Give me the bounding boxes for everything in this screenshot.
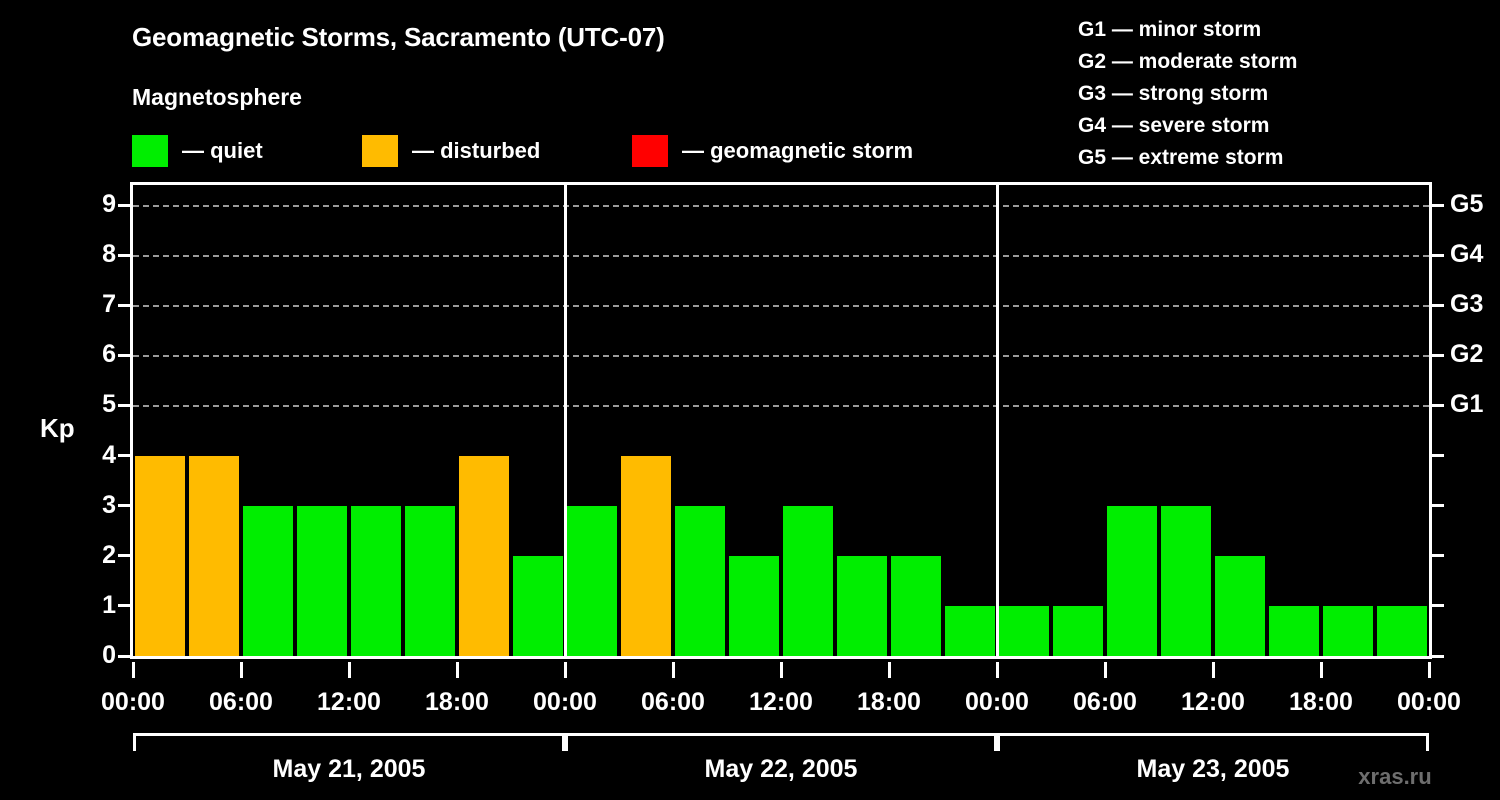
day-label-2: May 22, 2005 <box>705 755 858 784</box>
bar-20 <box>1215 556 1265 656</box>
x-tick-label-10: 12:00 <box>1181 688 1245 717</box>
x-tick-0 <box>132 662 135 678</box>
storm-swatch <box>632 135 668 167</box>
page-title: Geomagnetic Storms, Sacramento (UTC-07) <box>132 22 665 53</box>
y-tick-7 <box>118 304 130 307</box>
y-tick-label-8: 8 <box>76 242 116 267</box>
bar-18 <box>1107 506 1157 656</box>
bar-7 <box>513 556 563 656</box>
y-tick-0 <box>118 655 130 658</box>
bar-15 <box>945 606 995 656</box>
gridline-kp-9 <box>133 205 1429 207</box>
right-tick-kp-0 <box>1432 655 1444 658</box>
bar-5 <box>405 506 455 656</box>
bar-17 <box>1053 606 1103 656</box>
x-tick-label-11: 18:00 <box>1289 688 1353 717</box>
bar-13 <box>837 556 887 656</box>
g-legend-row-1: G1 — minor storm <box>1078 14 1297 46</box>
bar-21 <box>1269 606 1319 656</box>
day-bracket-2 <box>565 733 997 751</box>
gridline-kp-8 <box>133 255 1429 257</box>
g-legend-row-3: G3 — strong storm <box>1078 78 1297 110</box>
day-bracket-3 <box>997 733 1429 751</box>
x-tick-4 <box>564 662 567 678</box>
y-tick-label-2: 2 <box>76 543 116 568</box>
watermark: xras.ru <box>1358 764 1431 790</box>
x-tick-11 <box>1320 662 1323 678</box>
x-tick-label-7: 18:00 <box>857 688 921 717</box>
x-tick-label-8: 00:00 <box>965 688 1029 717</box>
y-tick-5 <box>118 404 130 407</box>
x-tick-label-4: 00:00 <box>533 688 597 717</box>
x-tick-label-1: 06:00 <box>209 688 273 717</box>
x-tick-9 <box>1104 662 1107 678</box>
x-tick-7 <box>888 662 891 678</box>
y-tick-6 <box>118 354 130 357</box>
right-tick-kp-5 <box>1432 404 1444 407</box>
bar-11 <box>729 556 779 656</box>
x-tick-label-12: 00:00 <box>1397 688 1461 717</box>
right-tick-kp-4 <box>1432 454 1444 457</box>
y-tick-label-3: 3 <box>76 493 116 518</box>
right-tick-kp-7 <box>1432 304 1444 307</box>
y-tick-8 <box>118 254 130 257</box>
legend-entry-disturbed: — disturbed <box>362 132 540 170</box>
x-tick-2 <box>348 662 351 678</box>
y-tick-label-6: 6 <box>76 342 116 367</box>
bar-23 <box>1377 606 1427 656</box>
g-axis-label-G4: G4 <box>1450 242 1483 267</box>
y-tick-1 <box>118 604 130 607</box>
day-separator-2 <box>996 185 999 656</box>
legend-entry-storm: — geomagnetic storm <box>632 132 913 170</box>
plot-area <box>130 182 1432 659</box>
x-tick-label-6: 12:00 <box>749 688 813 717</box>
bar-12 <box>783 506 833 656</box>
g-axis-label-G1: G1 <box>1450 392 1483 417</box>
bar-1 <box>189 456 239 656</box>
g-legend-row-2: G2 — moderate storm <box>1078 46 1297 78</box>
bar-19 <box>1161 506 1211 656</box>
gridline-kp-5 <box>133 405 1429 407</box>
bar-14 <box>891 556 941 656</box>
bar-3 <box>297 506 347 656</box>
gridline-kp-7 <box>133 305 1429 307</box>
legend-entry-quiet: — quiet <box>132 132 263 170</box>
legend-label: — quiet <box>182 138 263 164</box>
y-tick-3 <box>118 504 130 507</box>
x-tick-label-0: 00:00 <box>101 688 165 717</box>
bar-2 <box>243 506 293 656</box>
day-label-1: May 21, 2005 <box>273 755 426 784</box>
x-tick-10 <box>1212 662 1215 678</box>
g-legend-row-4: G4 — severe storm <box>1078 110 1297 142</box>
x-tick-label-9: 06:00 <box>1073 688 1137 717</box>
x-tick-label-2: 12:00 <box>317 688 381 717</box>
y-tick-label-5: 5 <box>76 392 116 417</box>
day-bracket-1 <box>133 733 565 751</box>
x-tick-label-3: 18:00 <box>425 688 489 717</box>
bar-22 <box>1323 606 1373 656</box>
y-tick-label-1: 1 <box>76 593 116 618</box>
y-tick-label-0: 0 <box>76 643 116 668</box>
g-legend-row-5: G5 — extreme storm <box>1078 142 1297 174</box>
bar-16 <box>999 606 1049 656</box>
quiet-swatch <box>132 135 168 167</box>
y-tick-9 <box>118 204 130 207</box>
magnetosphere-subtitle: Magnetosphere <box>132 84 302 111</box>
g-axis-label-G2: G2 <box>1450 342 1483 367</box>
g-axis-label-G5: G5 <box>1450 192 1483 217</box>
y-tick-label-9: 9 <box>76 192 116 217</box>
x-tick-8 <box>996 662 999 678</box>
x-tick-1 <box>240 662 243 678</box>
right-tick-kp-9 <box>1432 204 1444 207</box>
x-tick-label-5: 06:00 <box>641 688 705 717</box>
bar-8 <box>567 506 617 656</box>
x-tick-6 <box>780 662 783 678</box>
disturbed-swatch <box>362 135 398 167</box>
y-tick-label-7: 7 <box>76 292 116 317</box>
bar-6 <box>459 456 509 656</box>
g-scale-legend: G1 — minor stormG2 — moderate stormG3 — … <box>1078 14 1297 174</box>
legend-label: — disturbed <box>412 138 540 164</box>
right-tick-kp-6 <box>1432 354 1444 357</box>
y-tick-2 <box>118 554 130 557</box>
bar-4 <box>351 506 401 656</box>
x-tick-5 <box>672 662 675 678</box>
y-tick-4 <box>118 454 130 457</box>
y-tick-label-4: 4 <box>76 443 116 468</box>
right-tick-kp-1 <box>1432 604 1444 607</box>
right-tick-kp-8 <box>1432 254 1444 257</box>
gridline-kp-6 <box>133 355 1429 357</box>
legend-label: — geomagnetic storm <box>682 138 913 164</box>
x-tick-12 <box>1428 662 1431 678</box>
g-axis-label-G3: G3 <box>1450 292 1483 317</box>
y-axis-title: Kp <box>40 413 75 444</box>
plot-inner <box>133 185 1429 656</box>
day-label-3: May 23, 2005 <box>1137 755 1290 784</box>
bar-10 <box>675 506 725 656</box>
bar-0 <box>135 456 185 656</box>
right-tick-kp-2 <box>1432 554 1444 557</box>
x-tick-3 <box>456 662 459 678</box>
bar-9 <box>621 456 671 656</box>
right-tick-kp-3 <box>1432 504 1444 507</box>
